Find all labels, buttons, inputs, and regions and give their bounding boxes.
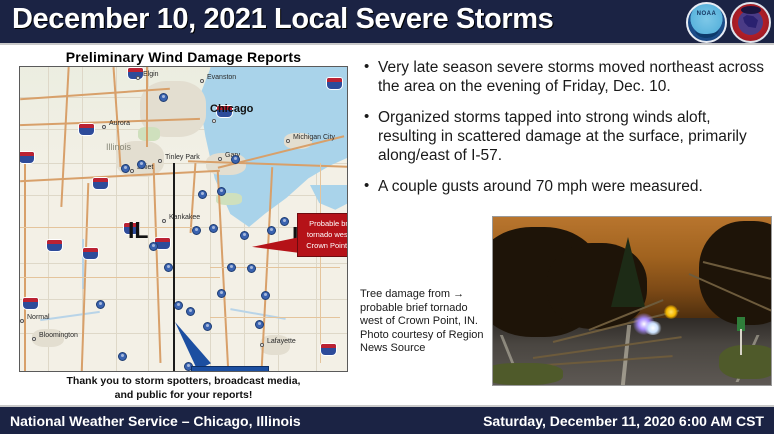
city-label: Aurora — [109, 120, 130, 127]
storm-report-marker[interactable] — [247, 264, 256, 273]
city-dot — [200, 79, 204, 83]
city-dot — [136, 76, 140, 80]
slide-footer: National Weather Service – Chicago, Illi… — [0, 405, 774, 434]
storm-report-marker[interactable] — [121, 164, 130, 173]
interstate-shield-icon — [92, 177, 109, 190]
photo-caption: Tree damage from → probable brief tornad… — [360, 288, 490, 356]
interstate-shield-icon — [46, 239, 63, 252]
city-label: Evanston — [207, 74, 236, 81]
city-dot — [20, 319, 24, 323]
storm-report-marker[interactable] — [227, 263, 236, 272]
storm-report-marker[interactable] — [217, 187, 226, 196]
storm-report-marker[interactable] — [159, 93, 168, 102]
city-dot — [158, 159, 162, 163]
callout-red-line1: Probable brief — [298, 218, 348, 229]
storm-report-marker[interactable] — [280, 217, 289, 226]
storm-report-marker[interactable] — [267, 226, 276, 235]
highway — [24, 163, 26, 372]
storm-report-marker[interactable] — [192, 226, 201, 235]
state-label-illinois: Illinois — [106, 142, 131, 152]
tree-damage-photo — [492, 216, 772, 386]
illinois-indiana-state-border — [173, 163, 175, 372]
photo-utility-pole — [740, 329, 742, 355]
city-dot — [130, 169, 134, 173]
storm-report-marker[interactable] — [231, 155, 240, 164]
highway — [146, 67, 148, 147]
storm-report-marker[interactable] — [186, 307, 195, 316]
bullet-item-1: Very late season severe storms moved nor… — [378, 58, 768, 96]
photo-grass-right — [719, 345, 772, 379]
park-area — [138, 127, 160, 141]
noaa-gull-shape — [695, 20, 720, 38]
city-dot — [102, 125, 106, 129]
wind-damage-reports-map[interactable]: Illinois IL IN Elgin Evanston Chicago Au… — [19, 66, 348, 372]
city-label: Normal — [27, 314, 50, 321]
highway-secondary — [320, 163, 321, 363]
storm-report-marker[interactable] — [149, 242, 158, 251]
storm-report-marker[interactable] — [164, 263, 173, 272]
storm-report-marker[interactable] — [174, 301, 183, 310]
city-dot — [218, 157, 222, 161]
storm-report-marker[interactable] — [203, 322, 212, 331]
callout-probable-tornado[interactable]: Probable brief tornado west of Crown Poi… — [297, 213, 348, 257]
bullet-item-3: A couple gusts around 70 mph were measur… — [378, 177, 768, 196]
interstate-shield-icon — [326, 77, 343, 90]
map-grid-line — [48, 67, 49, 371]
bullet-item-2: Organized storms tapped into strong wind… — [378, 108, 768, 165]
storm-report-marker[interactable] — [96, 300, 105, 309]
footer-timestamp: Saturday, December 11, 2020 6:00 AM CST — [483, 413, 764, 429]
city-label: Lafayette — [267, 338, 296, 345]
city-dot — [162, 219, 166, 223]
state-label-il: IL — [128, 217, 148, 244]
storm-report-marker[interactable] — [118, 352, 127, 361]
storm-report-marker[interactable] — [198, 190, 207, 199]
photo-evergreen-tree — [611, 237, 645, 307]
summary-bullet-list: Very late season severe storms moved nor… — [360, 58, 768, 208]
city-dot — [32, 337, 36, 341]
interstate-shield-icon — [82, 247, 99, 260]
photo-amber-warning-light — [664, 305, 678, 319]
city-label: Bloomington — [39, 332, 78, 339]
city-label: Kankakee — [169, 214, 200, 221]
map-credit-line-1: Thank you to storm spotters, broadcast m… — [19, 374, 348, 388]
photo-tree-canopy-right — [699, 221, 772, 325]
city-label: Elgin — [143, 71, 159, 78]
photo-grass-left — [492, 363, 563, 385]
callout-red-line3: Crown Point, IN — [298, 240, 348, 251]
callout-semis-blown-over[interactable]: Two semis blown on their sides on I-57 — [191, 366, 269, 372]
city-label: Chicago — [210, 103, 253, 115]
storm-report-marker[interactable] — [240, 231, 249, 240]
map-grid-line — [20, 195, 347, 196]
page-title: December 10, 2021 Local Severe Storms — [12, 3, 553, 36]
interstate-shield-icon — [19, 151, 35, 164]
nws-logo-cloud-shape — [741, 6, 761, 14]
map-credit-line-2: and public for your reports! — [19, 388, 348, 402]
interstate-shield-icon — [22, 297, 39, 310]
slide-header: December 10, 2021 Local Severe Storms NO… — [0, 0, 774, 45]
storm-report-marker[interactable] — [261, 291, 270, 300]
photo-vehicle-headlights — [644, 321, 662, 335]
callout-blue-line1: Two semis — [192, 370, 268, 372]
highway-secondary — [20, 277, 220, 278]
storm-report-marker[interactable] — [209, 224, 218, 233]
storm-report-marker[interactable] — [255, 320, 264, 329]
city-dot — [286, 139, 290, 143]
city-dot — [212, 119, 216, 123]
city-label: Michigan City — [293, 134, 335, 141]
noaa-logo-icon: NOAA — [686, 2, 727, 43]
city-dot — [260, 343, 264, 347]
interstate-shield-icon — [320, 343, 337, 356]
map-grid-line — [20, 263, 347, 264]
callout-red-line2: tornado west of — [298, 229, 348, 240]
interstate-shield-icon — [78, 123, 95, 136]
footer-office-name: National Weather Service – Chicago, Illi… — [10, 413, 301, 429]
map-title: Preliminary Wind Damage Reports — [19, 49, 348, 65]
noaa-logo-text: NOAA — [688, 11, 725, 17]
storm-report-marker[interactable] — [137, 160, 146, 169]
storm-report-marker[interactable] — [217, 289, 226, 298]
map-credit-note: Thank you to storm spotters, broadcast m… — [19, 374, 348, 402]
nws-logo-icon — [730, 2, 771, 43]
city-label: Tinley Park — [165, 154, 200, 161]
map-grid-line — [20, 299, 347, 300]
